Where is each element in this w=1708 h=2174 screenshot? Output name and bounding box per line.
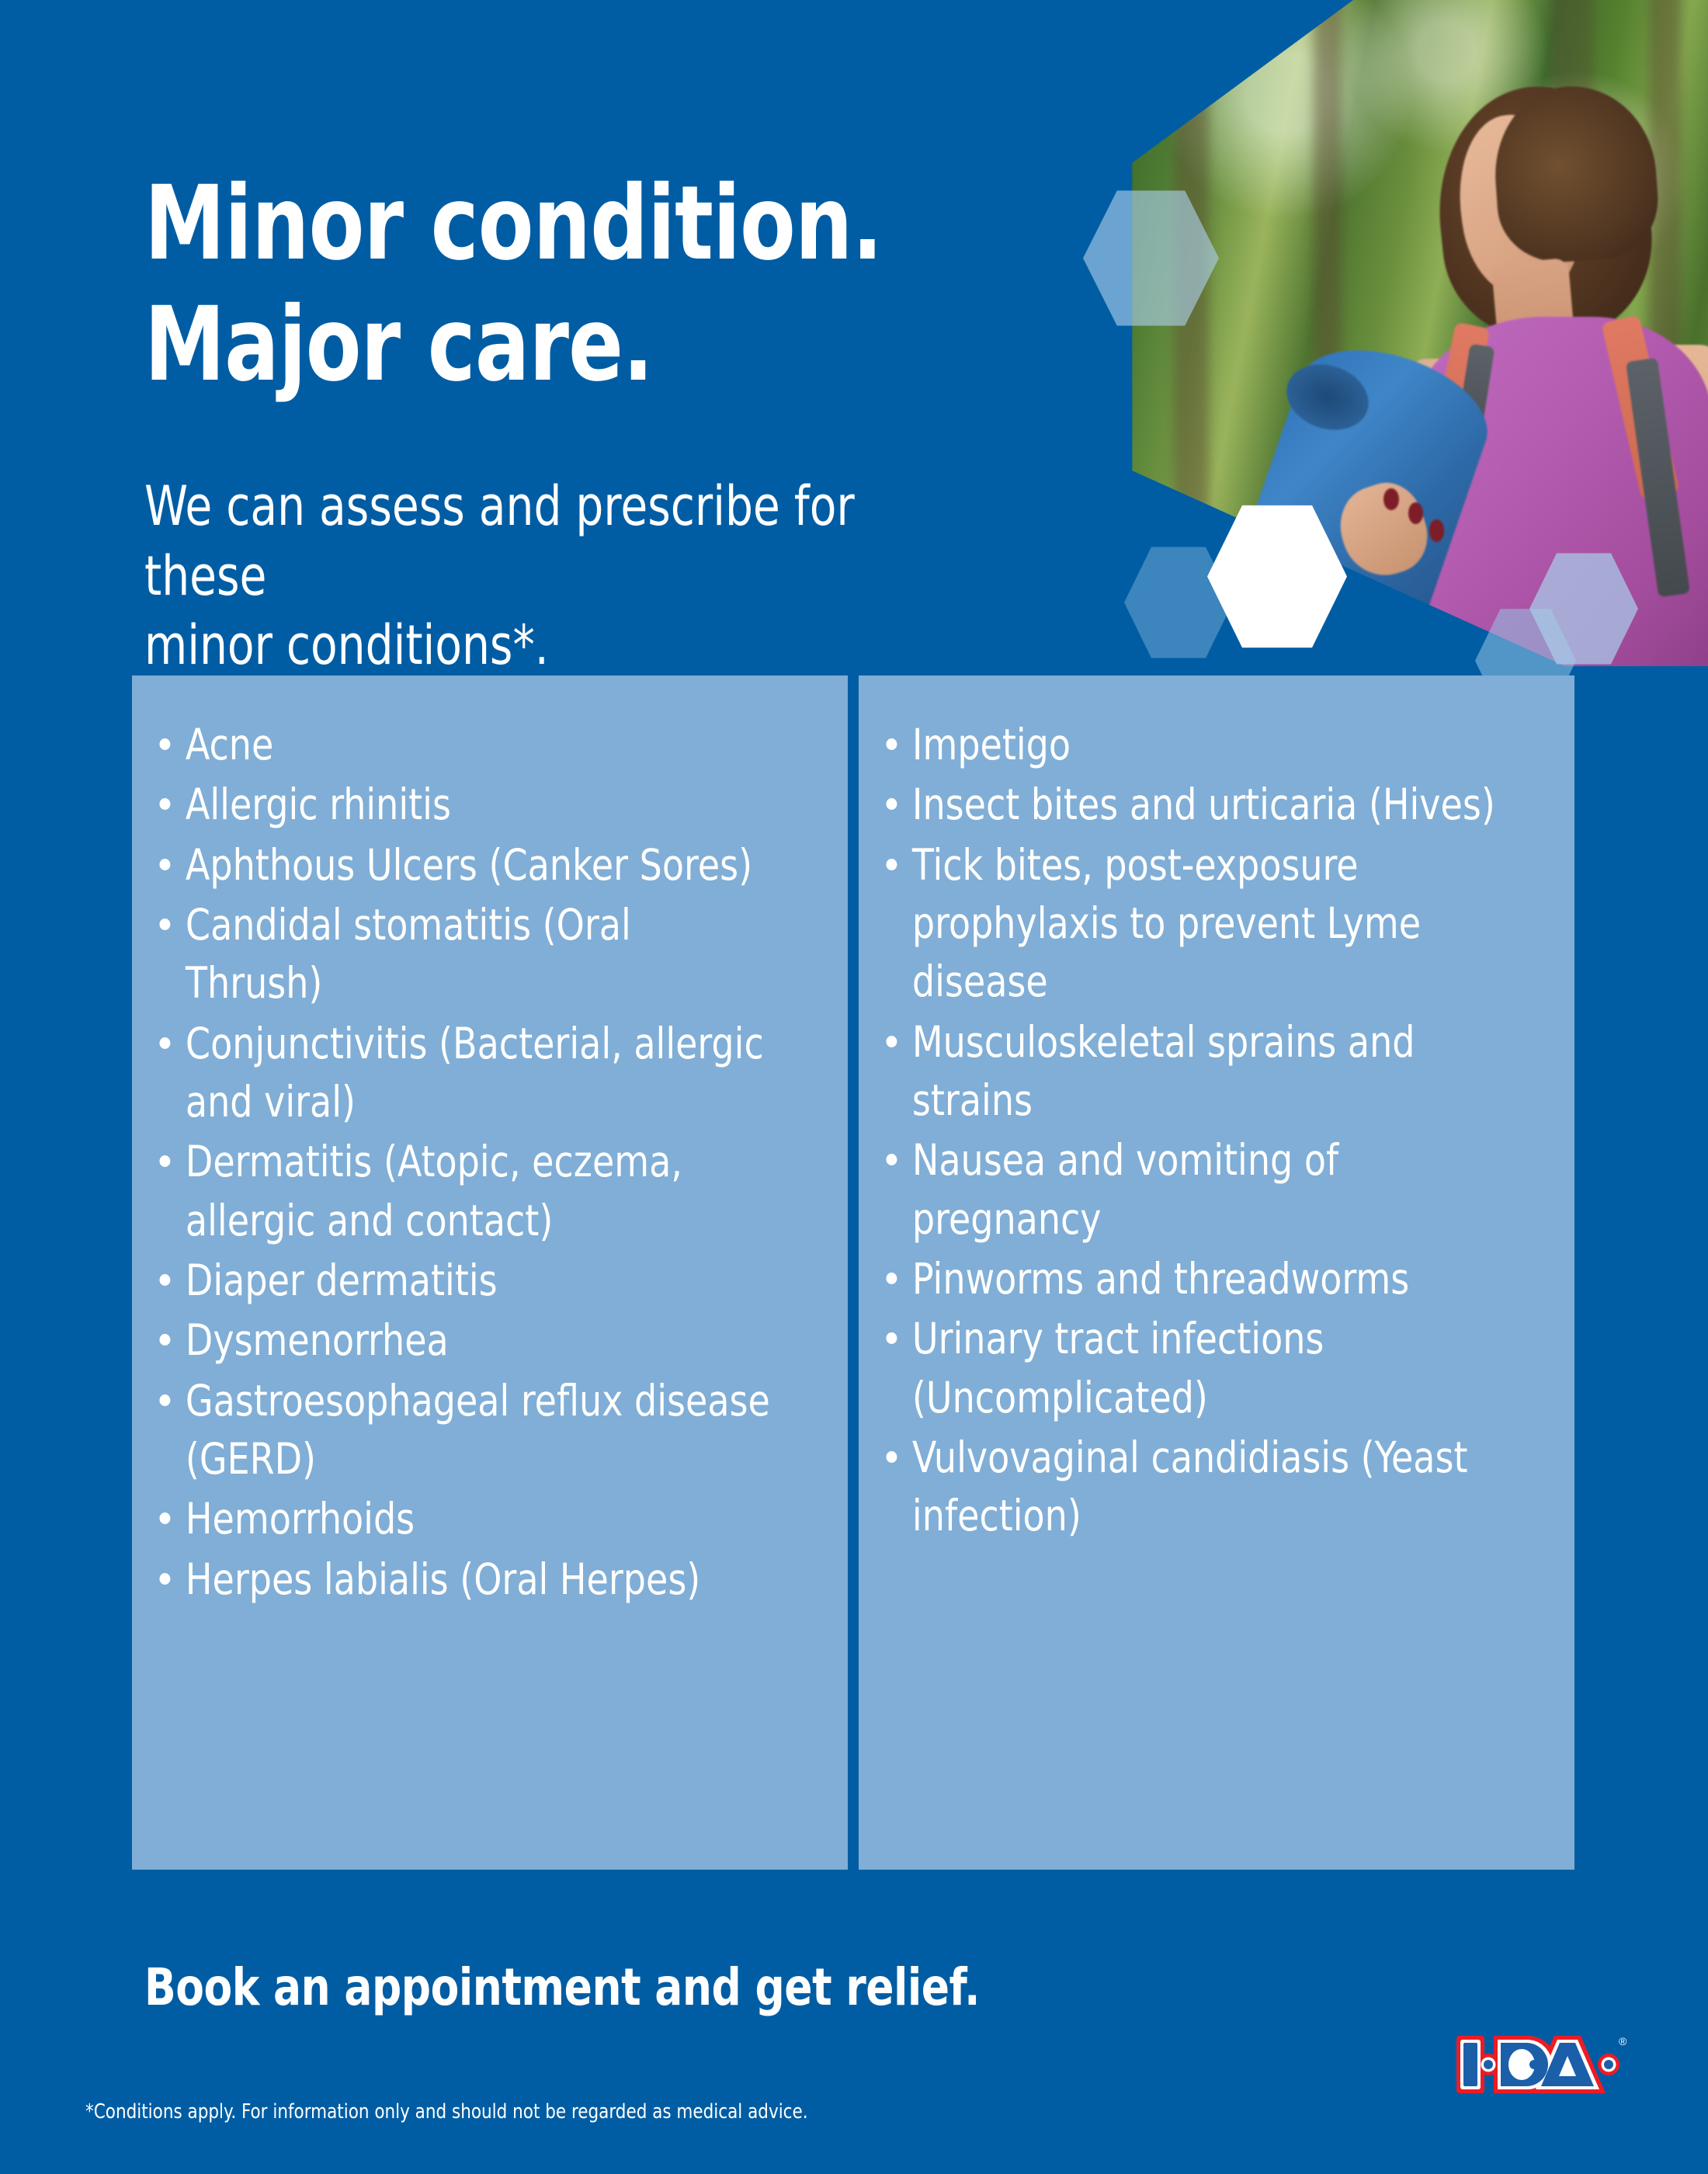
list-item: Allergic rhinitis — [154, 776, 773, 834]
conditions-list-left: Acne Allergic rhinitis Aphthous Ulcers (… — [154, 716, 820, 1609]
conditions-card-right: Impetigo Insect bites and urticaria (Hiv… — [859, 675, 1574, 1870]
list-item: Aphthous Ulcers (Canker Sores) — [154, 836, 773, 894]
registered-trademark-icon: ® — [1619, 2035, 1627, 2047]
list-item: Diaper dermatitis — [154, 1252, 773, 1310]
fingernail — [1429, 519, 1445, 542]
page-title: Minor condition. Major care. — [144, 172, 964, 396]
list-item: Herpes labialis (Oral Herpes) — [154, 1551, 773, 1609]
headline-line-2: Major care. — [144, 293, 964, 396]
list-item: Impetigo — [880, 716, 1500, 774]
list-item: Nausea and vomiting of pregnancy — [880, 1131, 1500, 1248]
ida-logo[interactable]: ® — [1453, 2028, 1654, 2103]
conditions-card-left: Acne Allergic rhinitis Aphthous Ulcers (… — [132, 675, 848, 1870]
disclaimer-text: *Conditions apply. For information only … — [85, 2102, 808, 2122]
list-item: Gastroesophageal reflux disease (GERD) — [154, 1372, 773, 1489]
list-item: Vulvovaginal candidiasis (Yeast infectio… — [880, 1429, 1500, 1546]
headline-line-1: Minor condition. — [144, 172, 964, 275]
list-item: Pinworms and threadworms — [880, 1250, 1500, 1308]
list-item: Dermatitis (Atopic, eczema, allergic and… — [154, 1133, 773, 1250]
list-item: Hemorrhoids — [154, 1490, 773, 1548]
list-item: Candidal stomatitis (Oral Thrush) — [154, 896, 773, 1013]
fingernail — [1383, 488, 1399, 511]
subheading: We can assess and prescribe for these mi… — [144, 472, 969, 681]
list-item: Dysmenorrhea — [154, 1311, 773, 1370]
conditions-list-right: Impetigo Insect bites and urticaria (Hiv… — [880, 716, 1547, 1546]
list-item: Urinary tract infections (Uncomplicated) — [880, 1310, 1500, 1427]
call-to-action-text: Book an appointment and get relief. — [144, 1962, 980, 2013]
list-item: Acne — [154, 716, 773, 774]
subheading-line-1: We can assess and prescribe for these — [144, 474, 855, 608]
list-item: Insect bites and urticaria (Hives) — [880, 776, 1500, 834]
poster-root: Minor condition. Major care. We can asse… — [0, 0, 1708, 2174]
list-item: Tick bites, post-exposure prophylaxis to… — [880, 836, 1500, 1012]
list-item: Musculoskeletal sprains and strains — [880, 1013, 1500, 1130]
conditions-card-group: Acne Allergic rhinitis Aphthous Ulcers (… — [132, 675, 1574, 1870]
subheading-line-2: minor conditions*. — [144, 613, 549, 677]
list-item: Conjunctivitis (Bacterial, allergic and … — [154, 1015, 773, 1132]
